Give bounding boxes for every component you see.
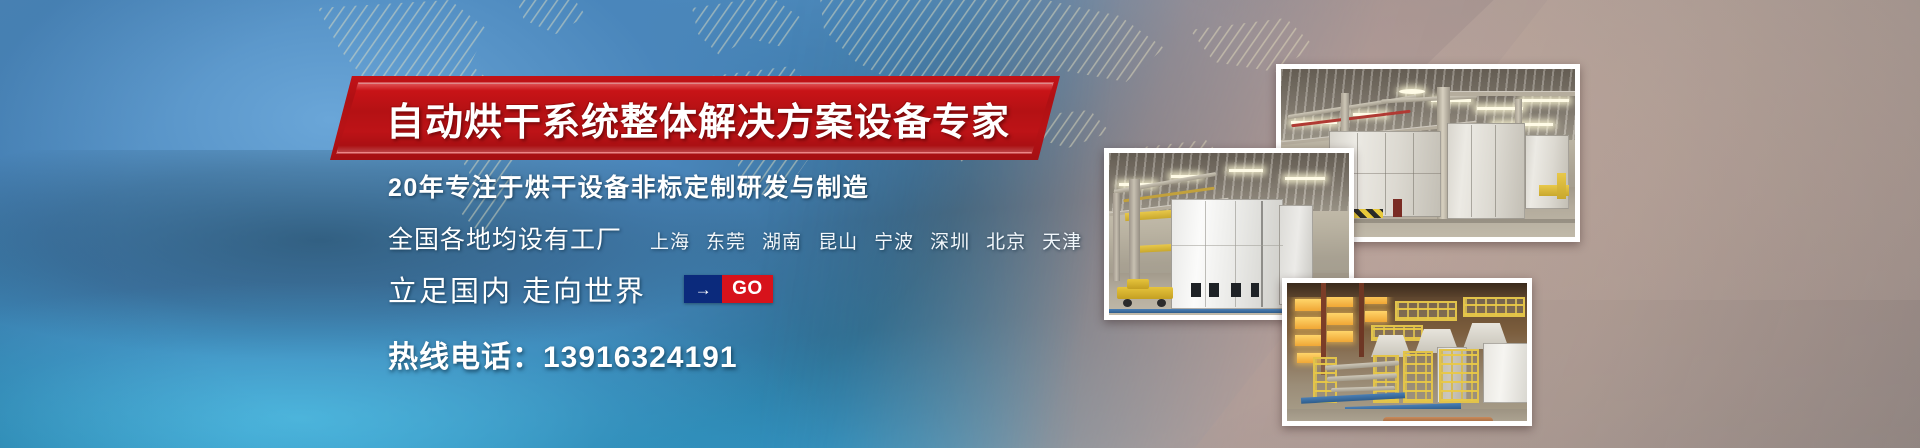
- city-item-hunan: 湖南: [762, 227, 802, 254]
- page-title: 自动烘干系统整体解决方案设备专家: [330, 76, 1060, 160]
- subtitle-experience: 20年专注于烘干设备非标定制研发与制造: [388, 168, 1108, 204]
- slogan-text: 立足国内 走向世界: [388, 268, 646, 310]
- city-item-tianjin: 天津: [1042, 227, 1082, 254]
- headline-ribbon: 自动烘干系统整体解决方案设备专家: [330, 76, 1060, 160]
- city-item-kunshan: 昆山: [818, 227, 858, 254]
- copy-block: 20年专注于烘干设备非标定制研发与制造 全国各地均设有工厂 上海 东莞 湖南 昆…: [388, 168, 1108, 376]
- city-list: 上海 东莞 湖南 昆山 宁波 深圳 北京 天津: [650, 227, 1082, 254]
- promo-banner: 自动烘干系统整体解决方案设备专家 20年专注于烘干设备非标定制研发与制造 全国各…: [0, 0, 1920, 448]
- factories-line: 全国各地均设有工厂 上海 东莞 湖南 昆山 宁波 深圳 北京 天津: [388, 220, 1108, 256]
- slogan-line: 立足国内 走向世界 → GO: [388, 268, 1108, 310]
- city-item-shanghai: 上海: [650, 227, 690, 254]
- go-button[interactable]: → GO: [684, 275, 773, 303]
- go-button-label: GO: [722, 275, 773, 303]
- city-item-ningbo: 宁波: [874, 227, 914, 254]
- factories-label: 全国各地均设有工厂: [388, 220, 622, 256]
- city-item-shenzhen: 深圳: [930, 227, 970, 254]
- city-item-dongguan: 东莞: [706, 227, 746, 254]
- photo-workshop-line: [1282, 278, 1532, 426]
- arrow-right-icon: →: [684, 275, 722, 303]
- hotline-text: 热线电话：13916324191: [388, 332, 1108, 376]
- city-item-beijing: 北京: [986, 227, 1026, 254]
